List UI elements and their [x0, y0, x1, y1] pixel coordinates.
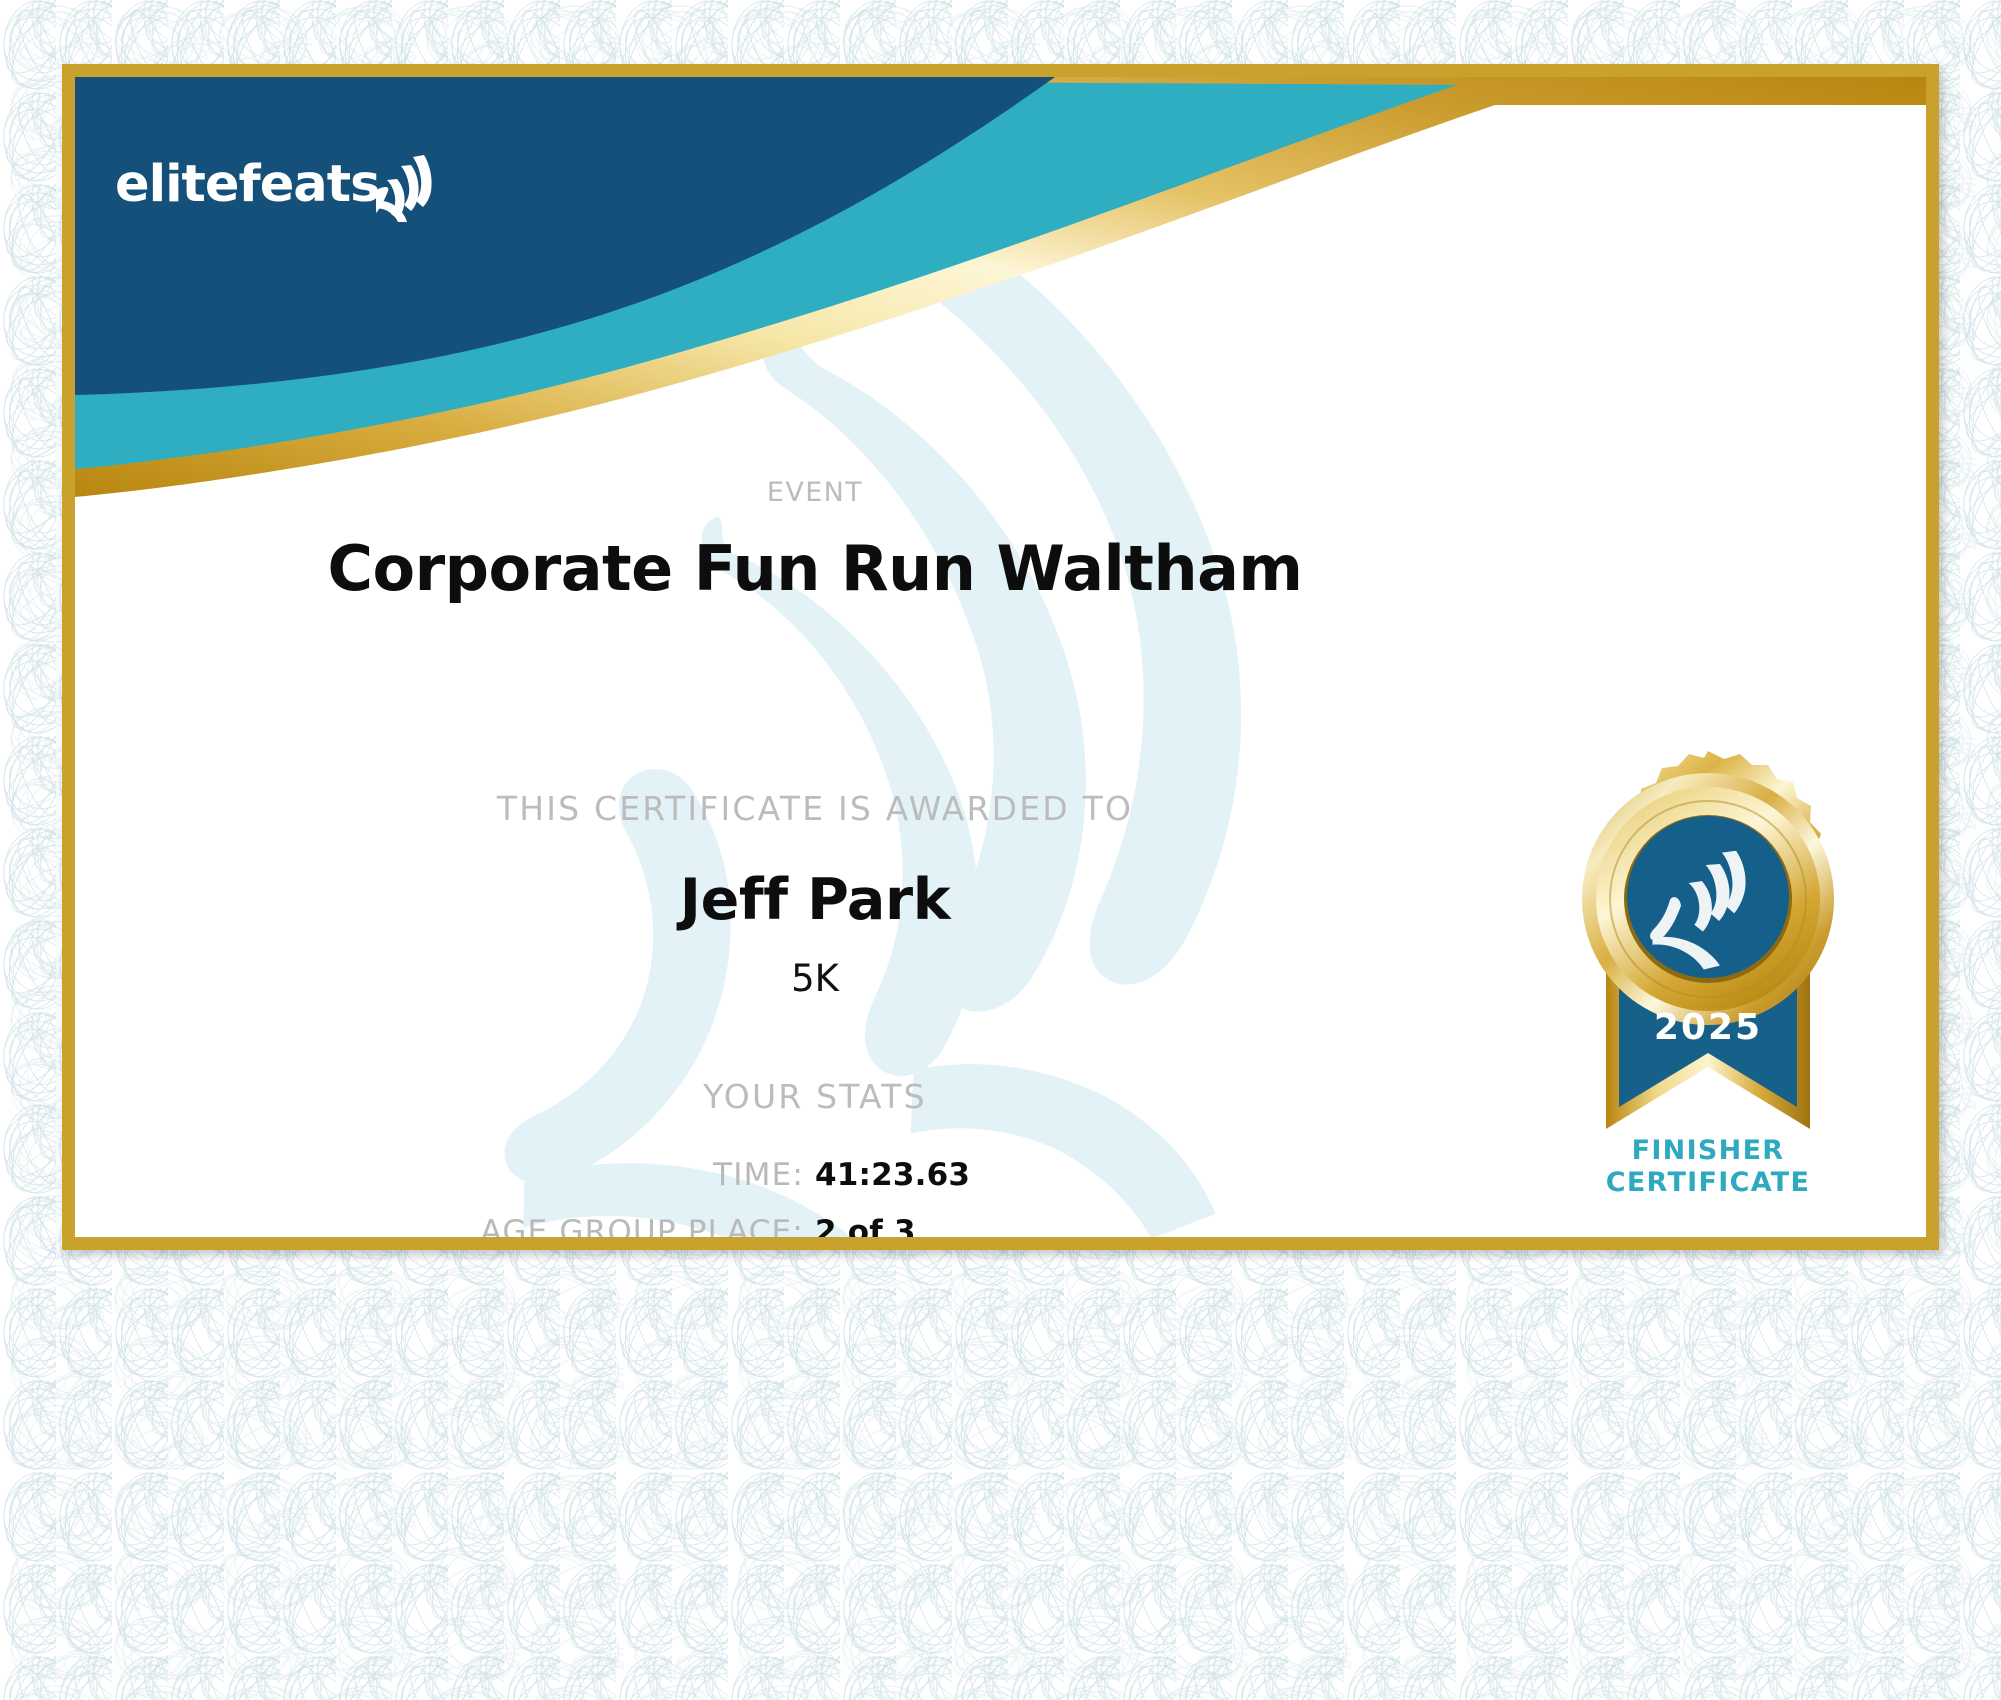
award-rosette-icon: 2025 [1558, 749, 1858, 1139]
finisher-badge: 2025 FINISHER CERTIFICATE [1558, 749, 1858, 1229]
badge-year: 2025 [1654, 1007, 1762, 1048]
stat-row: AGE GROUP PLACE: 2 of 3 [75, 1214, 1555, 1250]
brand-logo-wordmark: elitefeats [115, 159, 379, 210]
certificate-frame: elitefeats EVENT Corporate Fun Run Walth… [62, 64, 1939, 1250]
stat-value: 41:23.63 [815, 1157, 1245, 1193]
stats-list: TIME: 41:23.63 AGE GROUP PLACE: 2 of 3 O… [75, 1157, 1555, 1250]
stat-row: TIME: 41:23.63 [75, 1157, 1555, 1193]
recipient-name: Jeff Park [75, 867, 1555, 933]
badge-caption: FINISHER CERTIFICATE [1558, 1135, 1858, 1199]
awarded-to-label: THIS CERTIFICATE IS AWARDED TO [75, 789, 1555, 828]
badge-caption-line2: CERTIFICATE [1558, 1167, 1858, 1199]
stat-key: TIME: [385, 1157, 815, 1193]
brand-logo: elitefeats [115, 139, 445, 229]
race-distance: 5K [75, 957, 1555, 1000]
event-label: EVENT [75, 477, 1555, 508]
badge-caption-line1: FINISHER [1558, 1135, 1858, 1167]
stat-key: AGE GROUP PLACE: [385, 1214, 815, 1250]
your-stats-label: YOUR STATS [75, 1077, 1555, 1116]
stat-value: 2 of 3 [815, 1214, 1245, 1250]
event-name: Corporate Fun Run Waltham [75, 532, 1555, 605]
winged-foot-icon [375, 151, 443, 223]
